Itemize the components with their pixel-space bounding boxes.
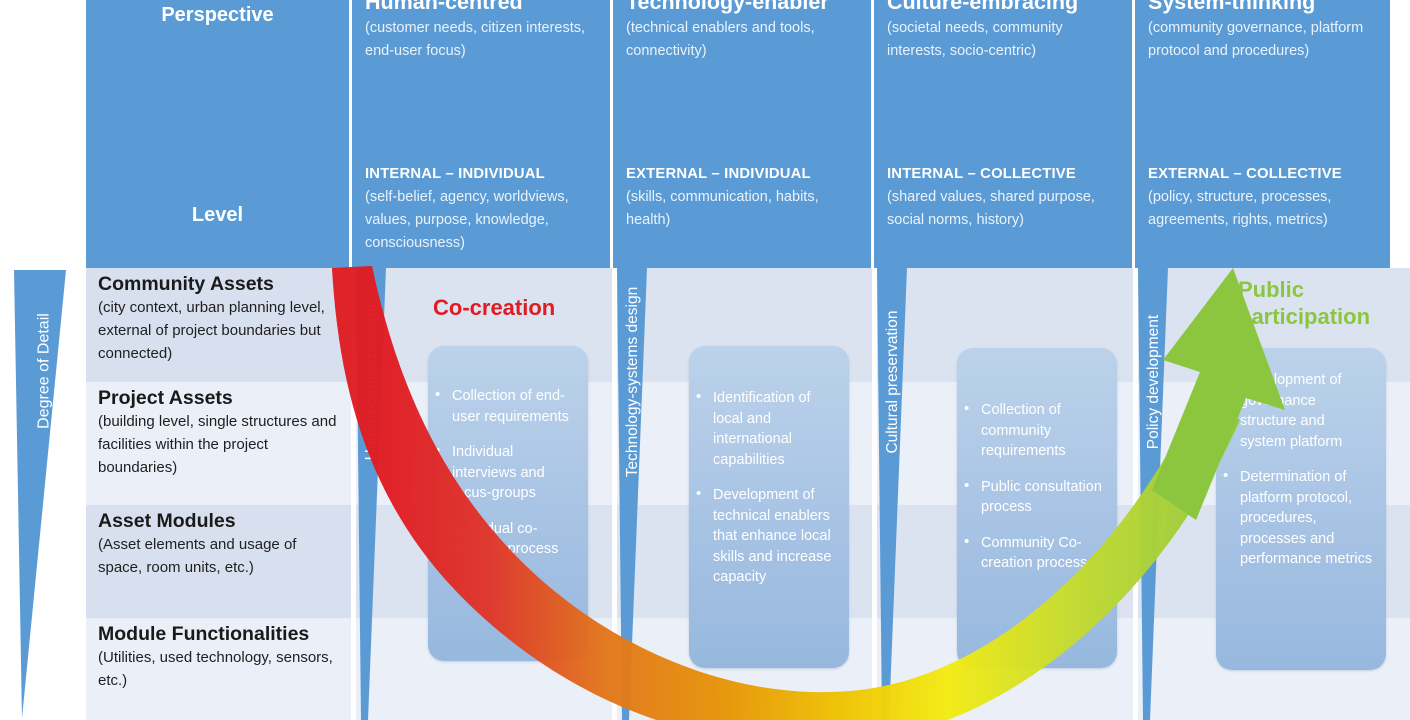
bullet-item: •Public consultation process — [957, 477, 1105, 518]
bullet-text: Development of technical enablers that e… — [713, 487, 831, 585]
header-column-subtitle: (customer needs, citizen interests, end-… — [365, 17, 600, 63]
bullet-dot: • — [435, 441, 440, 462]
bullet-item: •Development of technical enablers that … — [689, 485, 837, 588]
header-row-label-perspective: Perspective — [86, 4, 349, 27]
bullet-dot: • — [964, 476, 969, 497]
bullet-text: Determination of platform protocol, proc… — [1240, 469, 1372, 567]
detail-row-subtitle: (Asset elements and usage of space, room… — [98, 533, 339, 579]
header-column-human-centred: Human-centred (customer needs, citizen i… — [352, 0, 610, 268]
detail-row-subtitle: (building level, single structures and f… — [98, 410, 339, 479]
bullet-text: Development of governance structure and … — [1240, 372, 1342, 450]
content-card: •Identification of local and internation… — [689, 346, 849, 668]
column-wedge: Cultural preservation — [877, 268, 907, 720]
bullet-item: •Individual interviews and focus-groups — [428, 442, 576, 504]
content-column-vertical-label: Cultural preservation — [884, 262, 902, 502]
header-column-title: System-thinking — [1148, 0, 1380, 15]
header-level-title: EXTERNAL – COLLECTIVE — [1148, 162, 1382, 186]
figure-root: Perspective Level Human-centred (custome… — [0, 0, 1410, 720]
bullet-dot: • — [964, 532, 969, 553]
header-level-title: EXTERNAL – INDIVIDUAL — [626, 162, 863, 186]
degree-of-detail-label: Degree of Detail — [36, 279, 54, 464]
bullet-text: Community Co-creation process — [981, 535, 1087, 572]
header-column-subtitle: (technical enablers and tools, connectiv… — [626, 17, 861, 63]
header-column-culture-embracing: Culture-embracing (societal needs, commu… — [874, 0, 1132, 268]
header-column-technology-enabler: Technology-enabler (technical enablers a… — [613, 0, 871, 268]
bullet-item: •Community Co-creation process — [957, 533, 1105, 574]
content-column-vertical-label: Technology-systems design — [624, 262, 642, 502]
detail-row-subtitle: (Utilities, used technology, sensors, et… — [98, 646, 339, 692]
callout-public-participation: Public participation — [1238, 276, 1398, 330]
bullet-item: •Collection of community requirements — [957, 400, 1105, 462]
header-level-subtitle: (self-belief, agency, worldviews, values… — [365, 186, 602, 255]
detail-row-title: Project Assets — [98, 386, 339, 410]
content-column-vertical-label: Policy development — [1145, 262, 1163, 502]
header-band: Perspective Level Human-centred (custome… — [86, 0, 1390, 268]
bullet-dot: • — [696, 484, 701, 505]
bullet-dot: • — [435, 385, 440, 406]
content-card: Development of governance structure and … — [1216, 348, 1386, 670]
header-level-subtitle: (shared values, shared purpose, social n… — [887, 186, 1124, 232]
bullet-text: Collection of end-user requirements — [452, 388, 569, 425]
detail-row-title: Asset Modules — [98, 509, 339, 533]
detail-row-subtitle: (city context, urban planning level, ext… — [98, 296, 339, 365]
matrix-body: Degree of Detail Community Assets (city … — [0, 268, 1410, 720]
detail-row: Project Assets (building level, single s… — [86, 382, 351, 505]
bullet-dot: • — [964, 399, 969, 420]
content-card: •Collection of community requirements •P… — [957, 348, 1117, 668]
bullet-item: •Collection of end-user requirements — [428, 386, 576, 427]
bullet-item: •Individual co-creation process — [428, 519, 576, 560]
detail-row-title: Community Assets — [98, 272, 339, 296]
detail-row: Community Assets (city context, urban pl… — [86, 268, 351, 382]
bullet-item: Development of governance structure and … — [1216, 370, 1374, 452]
detail-row-title: Module Functionalities — [98, 622, 339, 646]
bullet-text: Public consultation process — [981, 479, 1102, 516]
content-card: •Collection of end-user requirements •In… — [428, 346, 588, 661]
content-column-technology-systems-design: Technology-systems design •Identificatio… — [617, 268, 872, 720]
header-column-title: Human-centred — [365, 0, 600, 15]
detail-row: Asset Modules (Asset elements and usage … — [86, 505, 351, 618]
content-column-policy-development: Policy development Public participation … — [1138, 268, 1410, 720]
header-level-subtitle: (skills, communication, habits, health) — [626, 186, 863, 232]
column-wedge: Policy development — [1138, 268, 1168, 720]
header-row-label-level: Level — [86, 204, 349, 227]
bullet-text: Collection of community requirements — [981, 402, 1066, 459]
bullet-item: •Identification of local and internation… — [689, 388, 837, 470]
header-column-title: Culture-embracing — [887, 0, 1122, 15]
bullet-text: Individual interviews and focus-groups — [452, 444, 545, 501]
bullet-dot: • — [1223, 466, 1228, 487]
content-column-cultural-preservation: Cultural preservation •Collection of com… — [877, 268, 1133, 720]
bullet-dot: • — [696, 387, 701, 408]
detail-row: Module Functionalities (Utilities, used … — [86, 618, 351, 720]
bullet-dot: • — [435, 518, 440, 539]
bullet-text: Identification of local and internationa… — [713, 390, 811, 468]
header-level-subtitle: (policy, structure, processes, agreement… — [1148, 186, 1382, 232]
header-column-title: Technology-enabler — [626, 0, 861, 15]
detail-rows-column: Community Assets (city context, urban pl… — [86, 268, 351, 720]
column-wedge: Technology-systems design — [617, 268, 647, 720]
column-wedge: Human-centred design — [356, 268, 386, 720]
header-column-system-thinking: System-thinking (community governance, p… — [1135, 0, 1390, 268]
degree-of-detail-wedge: Degree of Detail — [14, 270, 66, 718]
header-column-subtitle: (community governance, platform protocol… — [1148, 17, 1380, 63]
content-column-human-centred-design: Human-centred design Co-creation •Collec… — [356, 268, 612, 720]
bullet-text: Individual co-creation process — [452, 521, 558, 558]
content-column-vertical-label: Human-centred design — [363, 262, 381, 502]
header-level-title: INTERNAL – INDIVIDUAL — [365, 162, 602, 186]
header-level-title: INTERNAL – COLLECTIVE — [887, 162, 1124, 186]
header-column-subtitle: (societal needs, community interests, so… — [887, 17, 1122, 63]
bullet-item: •Determination of platform protocol, pro… — [1216, 467, 1374, 570]
callout-co-creation: Co-creation — [433, 294, 555, 321]
